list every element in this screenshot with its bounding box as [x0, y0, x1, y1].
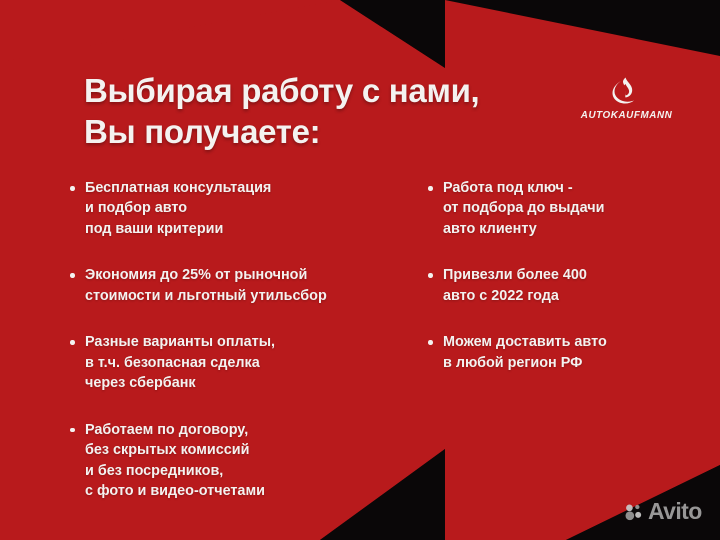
benefit-item-savings: Экономия до 25% от рыночной стоимости и … [68, 265, 398, 306]
benefits-column-left: Бесплатная консультация и подбор авто по… [68, 178, 398, 501]
benefit-line: Разные варианты оплаты, [85, 332, 398, 352]
benefit-item-free-consultation: Бесплатная консультация и подбор авто по… [68, 178, 398, 239]
benefit-line: авто клиенту [443, 219, 688, 239]
benefit-line: Бесплатная консультация [85, 178, 398, 198]
benefit-line: и без посредников, [85, 461, 398, 481]
bullet-dot-icon [70, 428, 75, 433]
bullet-dot-icon [428, 340, 433, 345]
bullet-dot-icon [428, 186, 433, 191]
benefit-line: и подбор авто [85, 198, 398, 218]
benefit-line: Экономия до 25% от рыночной [85, 265, 398, 285]
brand-wordmark: AUTOKAUFMANN [581, 109, 667, 121]
bullet-dot-icon [70, 340, 75, 345]
avito-dots-icon [624, 502, 644, 522]
benefit-line: в т.ч. безопасная сделка [85, 353, 398, 373]
bullet-dot-icon [70, 273, 75, 278]
benefit-item-contract-work: Работаем по договору, без скрытых комисс… [68, 420, 398, 502]
benefit-line: Работаем по договору, [85, 420, 398, 440]
avito-watermark: Avito [624, 500, 702, 523]
page-title: Выбирая работу с нами, Вы получаете: [84, 70, 584, 153]
benefit-line: через сбербанк [85, 373, 398, 393]
benefit-line: Можем доставить авто [443, 332, 688, 352]
benefits-columns: Бесплатная консультация и подбор авто по… [68, 178, 688, 501]
benefit-line: в любой регион РФ [443, 353, 688, 373]
promo-banner: Выбирая работу с нами, Вы получаете: AUT… [0, 0, 720, 540]
benefit-line: Привезли более 400 [443, 265, 688, 285]
brand-logo: AUTOKAUFMANN [578, 76, 670, 121]
benefit-line: Работа под ключ - [443, 178, 688, 198]
flame-swoosh-icon [609, 76, 639, 106]
avito-label: Avito [648, 500, 702, 523]
benefit-line: без скрытых комиссий [85, 440, 398, 460]
page-title-line-1: Выбирая работу с нами, [84, 70, 584, 111]
benefit-line: с фото и видео-отчетами [85, 481, 398, 501]
benefit-item-payment-options: Разные варианты оплаты, в т.ч. безопасна… [68, 332, 398, 393]
benefit-line: от подбора до выдачи [443, 198, 688, 218]
benefit-line: авто с 2022 года [443, 286, 688, 306]
benefit-item-cars-delivered: Привезли более 400 авто с 2022 года [426, 265, 688, 306]
bullet-dot-icon [428, 273, 433, 278]
benefits-column-right: Работа под ключ - от подбора до выдачи а… [426, 178, 688, 501]
benefit-line: стоимости и льготный утильсбор [85, 286, 398, 306]
benefit-item-delivery-region: Можем доставить авто в любой регион РФ [426, 332, 688, 373]
page-title-line-2: Вы получаете: [84, 111, 584, 152]
bullet-dot-icon [70, 186, 75, 191]
benefit-line: под ваши критерии [85, 219, 398, 239]
benefit-item-turnkey-service: Работа под ключ - от подбора до выдачи а… [426, 178, 688, 239]
